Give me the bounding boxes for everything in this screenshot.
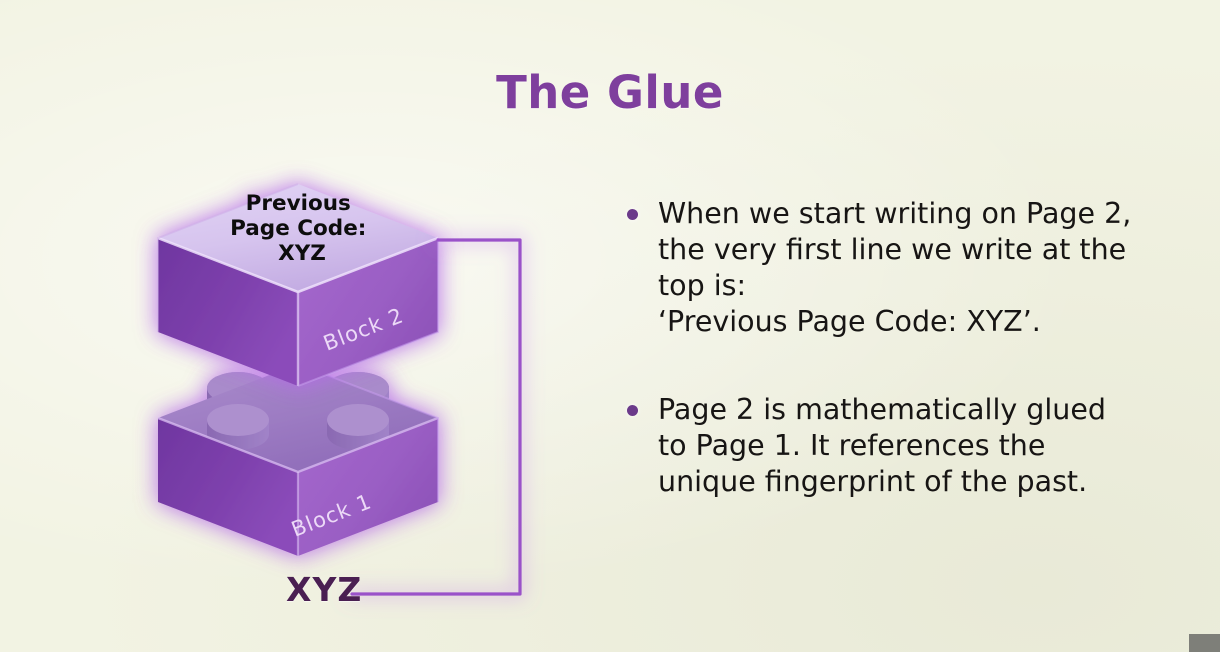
xyz-caption: XYZ (286, 570, 362, 609)
bullet-item-2: Page 2 is mathematically glued to Page 1… (618, 392, 1158, 500)
bullet-2-line-2: to Page 1. It references the (658, 428, 1158, 464)
bullet-1-line-4: ‘Previous Page Code: XYZ’. (658, 304, 1158, 340)
block-2-top-label-line-1: Previous (246, 191, 351, 216)
block-2: Previous Page Code: XYZ Block 2 (158, 184, 438, 386)
slide-canvas: The Glue (0, 0, 1220, 652)
bullet-1-line-1: When we start writing on Page 2, (658, 196, 1158, 232)
bullet-list: When we start writing on Page 2, the ver… (618, 196, 1158, 500)
bullet-dot-icon (627, 405, 638, 416)
corner-watermark (1189, 634, 1220, 652)
block-2-top-label-line-2: Page Code: (230, 216, 366, 241)
page-title: The Glue (0, 66, 1220, 119)
bullet-1-line-3: top is: (658, 268, 1158, 304)
isometric-blocks-svg: Block 1 Previous Page Code: X (120, 150, 590, 620)
block-chain-illustration: Block 1 Previous Page Code: X (120, 150, 590, 620)
block-2-top-label-line-3: XYZ (278, 241, 326, 266)
bullet-1-line-2: the very first line we write at the (658, 232, 1158, 268)
bullet-2-line-1: Page 2 is mathematically glued (658, 392, 1158, 428)
bullet-2-line-3: unique fingerprint of the past. (658, 464, 1158, 500)
bullet-item-1: When we start writing on Page 2, the ver… (618, 196, 1158, 340)
bullet-dot-icon (627, 209, 638, 220)
block-1: Block 1 (158, 364, 438, 556)
